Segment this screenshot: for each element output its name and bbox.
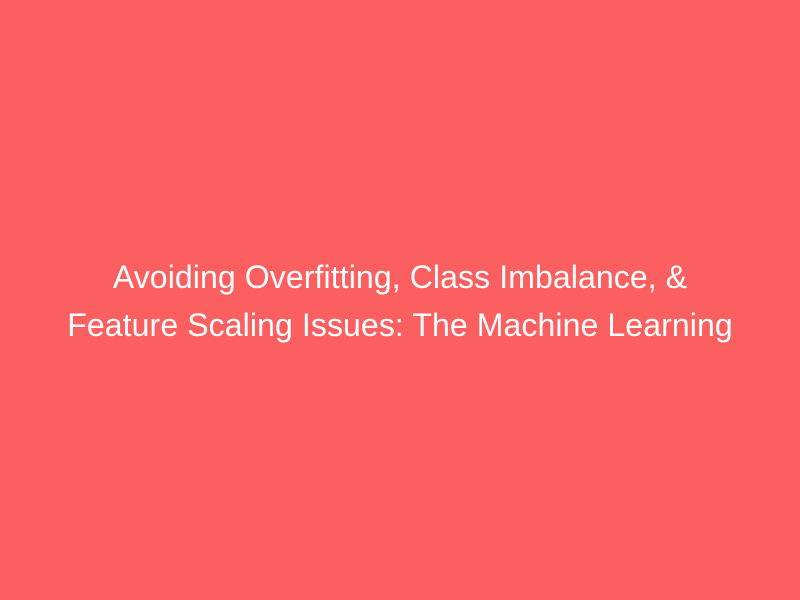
title-line-1: Avoiding Overfitting, Class Imbalance, &	[40, 253, 760, 301]
page-title: Avoiding Overfitting, Class Imbalance, &…	[20, 253, 780, 349]
title-line-2: Feature Scaling Issues: The Machine Lear…	[40, 301, 760, 349]
share-card: Avoiding Overfitting, Class Imbalance, &…	[0, 0, 800, 600]
